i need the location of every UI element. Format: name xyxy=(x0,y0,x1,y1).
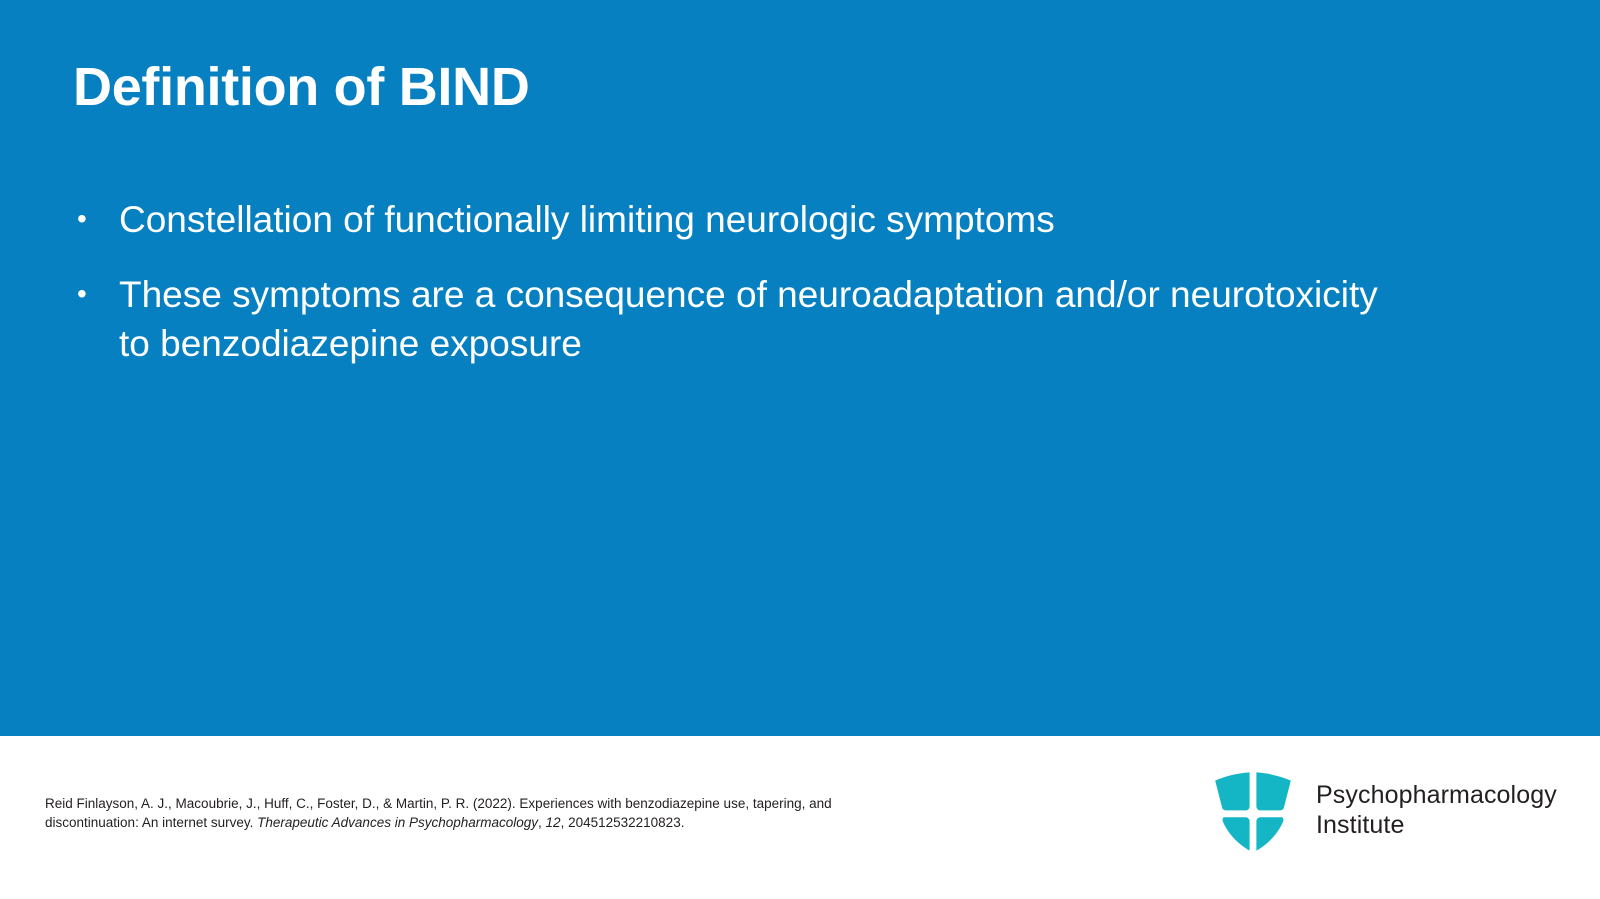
citation-journal: Therapeutic Advances in Psychopharmacolo… xyxy=(257,815,538,830)
shield-cross-logo-icon xyxy=(1212,768,1294,852)
citation-separator: , xyxy=(538,815,546,830)
brand-logo: Psychopharmacology Institute xyxy=(1212,768,1557,852)
citation-article-id: , 204512532210823. xyxy=(561,815,685,830)
bullet-text: Constellation of functionally limiting n… xyxy=(119,195,1389,244)
bullet-list: • Constellation of functionally limiting… xyxy=(73,195,1473,395)
citation-reference: Reid Finlayson, A. J., Macoubrie, J., Hu… xyxy=(45,795,925,832)
slide-footer: Reid Finlayson, A. J., Macoubrie, J., Hu… xyxy=(0,736,1600,899)
bullet-point-icon: • xyxy=(73,270,119,318)
list-item: • Constellation of functionally limiting… xyxy=(73,195,1473,244)
brand-name-line2: Institute xyxy=(1316,810,1557,841)
slide: Definition of BIND • Constellation of fu… xyxy=(0,0,1600,899)
brand-name: Psychopharmacology Institute xyxy=(1316,780,1557,841)
bullet-text: These symptoms are a consequence of neur… xyxy=(119,270,1389,368)
slide-content-panel: Definition of BIND • Constellation of fu… xyxy=(0,0,1600,736)
brand-name-line1: Psychopharmacology xyxy=(1316,781,1557,809)
list-item: • These symptoms are a consequence of ne… xyxy=(73,270,1473,368)
citation-volume: 12 xyxy=(546,815,561,830)
bullet-point-icon: • xyxy=(73,195,119,243)
page-title: Definition of BIND xyxy=(73,58,530,117)
